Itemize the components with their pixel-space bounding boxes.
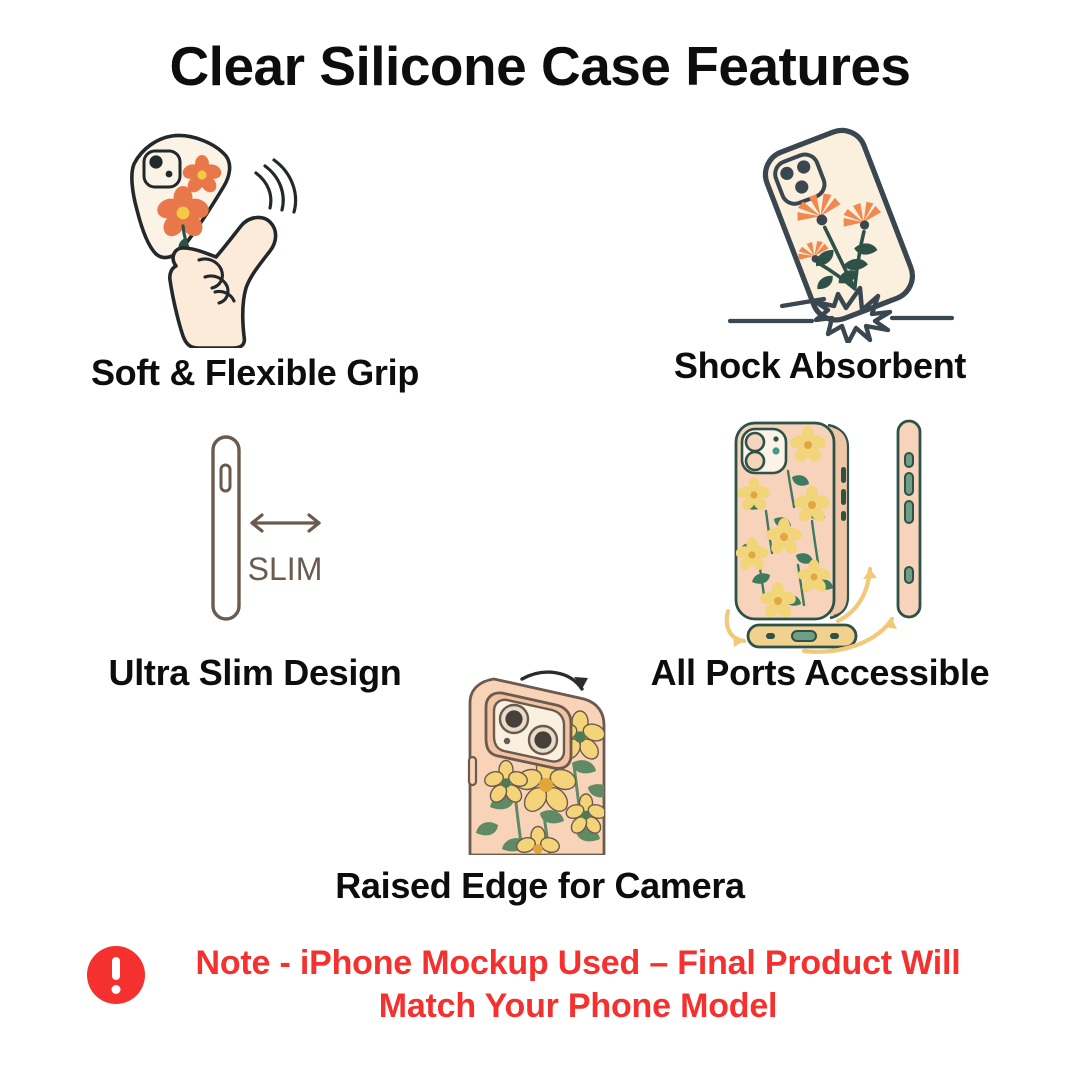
illustration-all-ports-accessible [700,415,950,655]
feature-label-raised-edge-for-camera: Raised Edge for Camera [180,865,900,907]
note-text: Note - iPhone Mockup Used – Final Produc… [163,942,993,1028]
note-banner: Note - iPhone Mockup Used – Final Produc… [0,942,1080,1028]
page-title: Clear Silicone Case Features [0,34,1080,98]
feature-label-shock-absorbent: Shock Absorbent [585,345,1055,387]
illustration-shock-absorbent [720,118,960,343]
illustration-raised-edge-for-camera [440,655,660,855]
exclamation-circle-icon [87,946,145,1004]
infographic-page: Clear Silicone Case Features [0,0,1080,1080]
illustration-ultra-slim-design: SLIM [185,425,365,630]
exclamation-dot [112,985,121,994]
feature-label-soft-flexible-grip: Soft & Flexible Grip [20,352,490,394]
feature-label-ultra-slim-design: Ultra Slim Design [20,652,490,694]
slim-caption: SLIM [248,551,323,587]
exclamation-bar [112,957,120,980]
illustration-soft-flexible-grip [120,118,380,348]
